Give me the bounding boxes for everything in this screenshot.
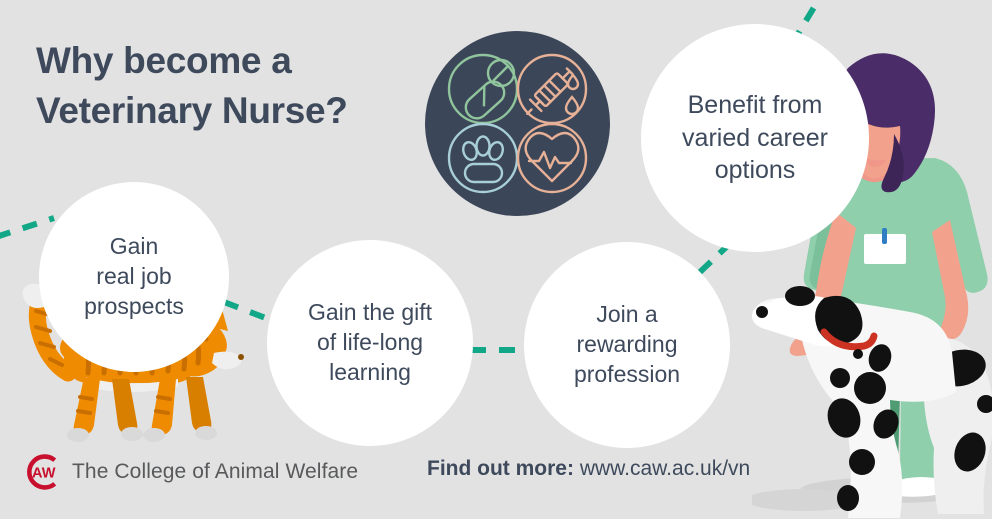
cat-leg-1	[74, 377, 100, 435]
bubble-benefit-career[interactable]: Benefit from varied career options	[641, 24, 869, 252]
caw-logo: AW	[22, 452, 62, 492]
footer-cta: Find out more: www.caw.ac.uk/vn	[427, 457, 750, 481]
dalmatian-illustration	[748, 276, 992, 519]
veterinary-icon-cluster	[425, 31, 610, 216]
bubble-real-job[interactable]: Gain real job prospects	[39, 182, 229, 372]
cat-leg-4	[186, 377, 211, 432]
bubble-life-long[interactable]: Gain the gift of life-long learning	[267, 240, 473, 446]
bubble-rewarding[interactable]: Join a rewarding profession	[524, 242, 730, 448]
dog-nose	[756, 306, 768, 318]
page-title: Why become a Veterinary Nurse?	[36, 36, 436, 137]
badge-pen-icon	[882, 228, 887, 244]
dash-left-edge	[0, 218, 54, 237]
syringe-icon	[518, 55, 586, 123]
footer-organisation-name: The College of Animal Welfare	[72, 460, 358, 484]
heartbeat-icon	[518, 124, 586, 192]
caw-url-link[interactable]: www.caw.ac.uk/vn	[580, 457, 750, 480]
paw-icon	[449, 124, 517, 192]
caw-logo-letters: AW	[32, 465, 56, 481]
cat-nose	[238, 354, 244, 360]
find-out-more-label: Find out more:	[427, 457, 574, 480]
footer-branding: AW The College of Animal Welfare	[22, 452, 358, 492]
infographic-poster: Why become a Veterinary Nurse?	[0, 0, 992, 519]
pills-icon	[449, 55, 517, 123]
